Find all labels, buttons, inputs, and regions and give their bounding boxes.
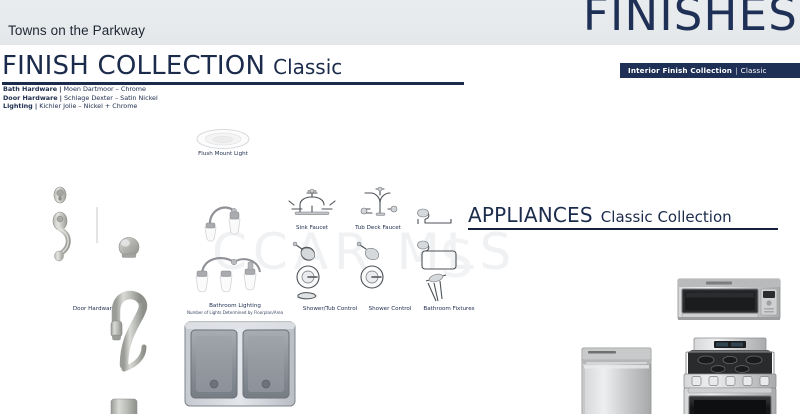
gas-range-image: ◯ (678, 336, 782, 414)
spec-key: Door Hardware (3, 94, 58, 102)
finish-collection-heading: FINISH COLLECTION Classic (2, 53, 464, 85)
section-heading: FINISHES (583, 0, 798, 37)
kitchen-sink-image (183, 318, 297, 414)
spec-line: Bath Hardware | Moen Dartmoor – Chrome (3, 85, 158, 94)
shower-tub-control-image (288, 235, 334, 303)
badge-label: Interior Finish Collection (628, 66, 732, 75)
bathroom-lighting-caption: Bathroom Lighting (175, 303, 295, 310)
bathroom-lighting-image-three (188, 250, 280, 302)
spec-sep: | (35, 102, 37, 110)
finish-spec-list: Bath Hardware | Moen Dartmoor – Chrome D… (3, 85, 158, 111)
spec-key: Bath Hardware (3, 85, 57, 93)
bathroom-fixtures-caption: Bathroom Fixtures (404, 306, 494, 313)
spec-line: Lighting | Kichler Jolie – Nickel + Chro… (3, 102, 158, 111)
appliances-subtitle: Classic Collection (601, 208, 732, 226)
header-band: Towns on the Parkway FINISHES (0, 0, 800, 45)
bathroom-lighting-image (196, 197, 272, 243)
flush-mount-light-caption: Flush Mount Light (178, 151, 268, 158)
appliances-heading: APPLIANCES Classic Collection (468, 205, 778, 230)
tub-deck-faucet-caption: Tub Deck Faucet (338, 225, 418, 232)
finish-collection-title: FINISH COLLECTION (2, 53, 265, 79)
spec-value: Moen Dartmoor – Chrome (64, 85, 146, 93)
spec-line: Door Hardware | Schlage Dexter – Satin N… (3, 94, 158, 103)
appliances-rule (468, 228, 778, 230)
finishes-sheet: Towns on the Parkway FINISHES CCAR MLS S… (0, 0, 800, 414)
sheet-body: CCAR MLS S Interior Finish Collection | … (0, 45, 800, 414)
over-range-microwave-image (676, 277, 782, 322)
status-badge: Interior Finish Collection | Classic (620, 63, 800, 78)
spec-value: Kichler Jolie – Nickel + Chrome (39, 102, 137, 110)
badge-separator: | (735, 66, 738, 75)
badge-value: Classic (741, 66, 767, 75)
spec-sep: | (59, 85, 61, 93)
flush-mount-light-image (196, 128, 250, 150)
finish-collection-subtitle: Classic (273, 57, 342, 77)
door-hardware-image (44, 185, 154, 270)
spec-value: Schlage Dexter – Satin Nickel (64, 94, 158, 102)
spec-key: Lighting (3, 102, 33, 110)
dishwasher-image (580, 346, 653, 414)
kitchen-faucet-image (92, 277, 162, 414)
spec-sep: | (60, 94, 62, 102)
sink-faucet-image (286, 187, 338, 219)
page-title: Towns on the Parkway (8, 23, 145, 38)
shower-control-image (352, 235, 398, 295)
bathroom-fixtures-image (412, 205, 468, 305)
appliances-title: APPLIANCES (468, 205, 593, 226)
tub-deck-faucet-image (350, 185, 402, 219)
